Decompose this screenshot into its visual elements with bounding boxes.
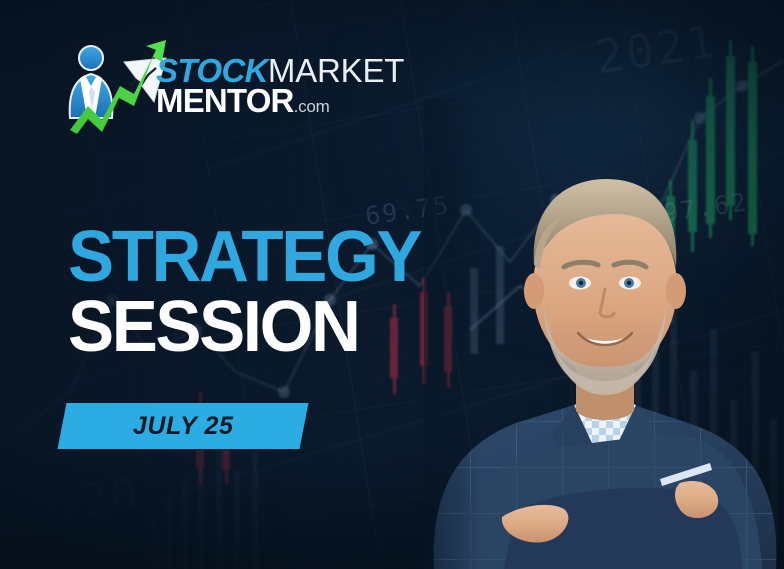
brand-logo[interactable]: STOCKMARKET MENTOR.com	[48, 34, 330, 138]
brand-logo-wordmark: STOCKMARKET MENTOR.com	[156, 56, 404, 117]
headline-block: STRATEGY SESSION	[68, 224, 435, 361]
presenter-portrait	[424, 99, 784, 569]
headline-line-session: SESSION	[68, 294, 420, 362]
logo-text-tld: .com	[294, 97, 330, 116]
headline-line-strategy: STRATEGY	[68, 224, 420, 292]
date-badge-label: JULY 25	[133, 412, 234, 441]
promo-banner: 2021 2020 69.75 97.62 5	[0, 0, 784, 569]
date-badge[interactable]: JULY 25	[58, 403, 309, 449]
logo-text-mentor: MENTOR	[156, 82, 294, 119]
